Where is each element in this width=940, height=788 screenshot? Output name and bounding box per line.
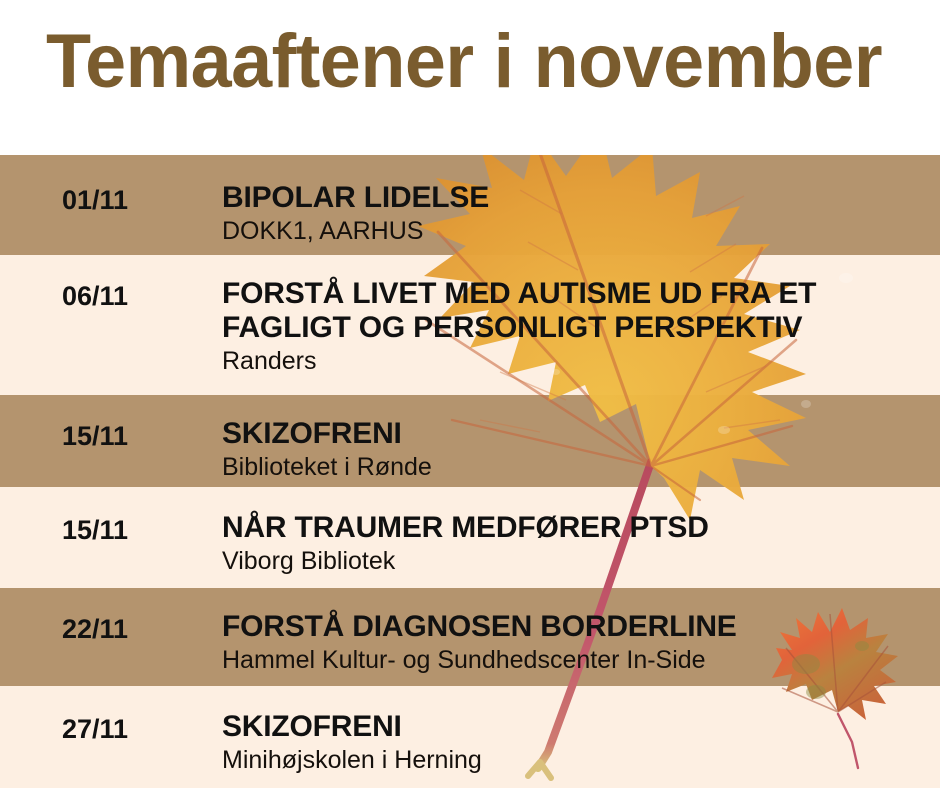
band-row-4 <box>0 487 940 588</box>
poster-canvas: Temaaftener i november 01/11 BIPOLAR LID… <box>0 0 940 788</box>
band-row-5 <box>0 588 940 686</box>
band-row-1 <box>0 155 940 255</box>
band-row-6 <box>0 686 940 788</box>
band-row-2 <box>0 255 940 395</box>
header-bar: Temaaftener i november <box>0 0 940 155</box>
page-title: Temaaftener i november <box>46 24 882 100</box>
band-row-3 <box>0 395 940 487</box>
